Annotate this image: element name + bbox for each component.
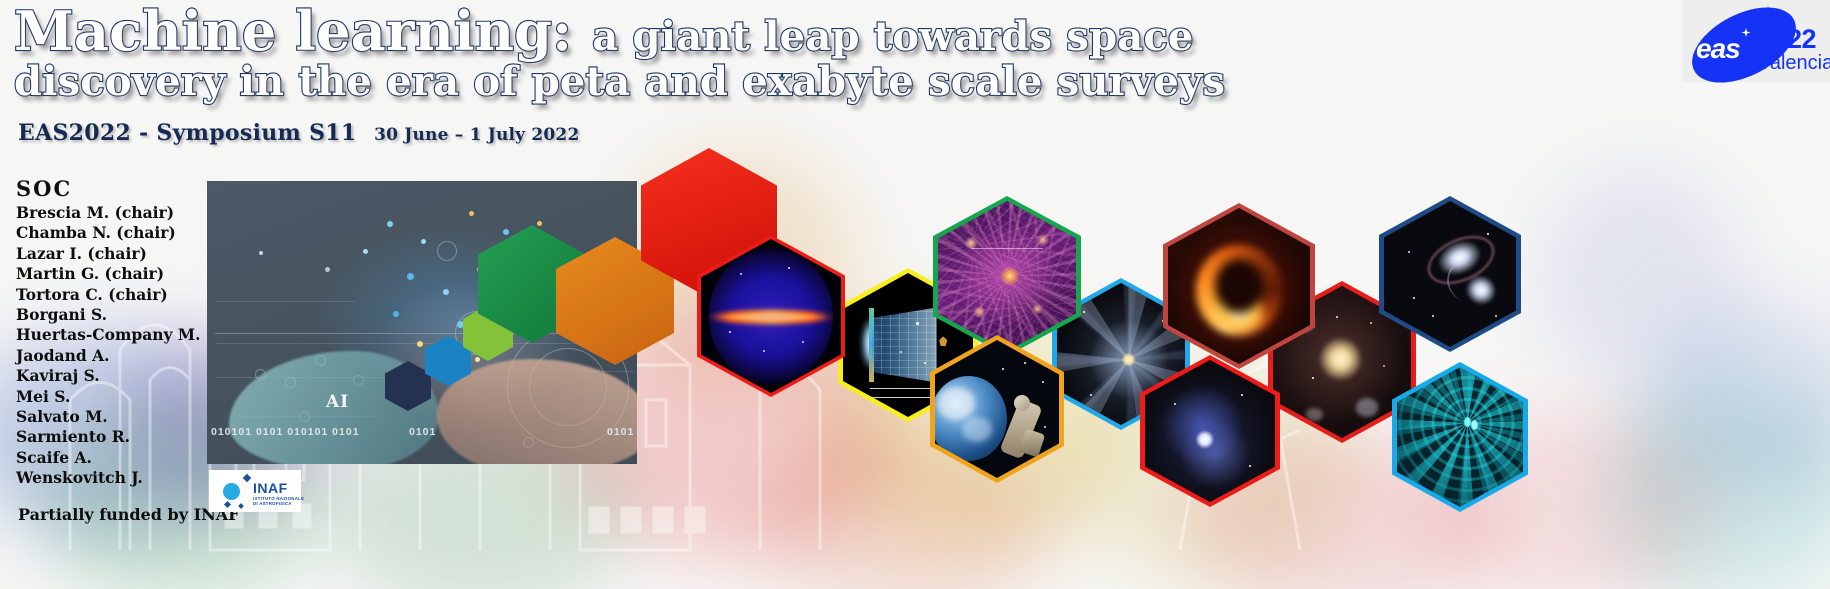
soc-member: Tortora C. (chair) xyxy=(16,285,201,305)
inaf-logo: INAF ISTITUTO NAZIONALE DI ASTROFISICA xyxy=(209,470,301,512)
inaf-diamond-top-icon xyxy=(243,474,251,482)
soc-member: Sarmiento R. xyxy=(16,427,201,447)
soc-member: Lazar I. (chair) xyxy=(16,244,201,264)
soc-heading: SOC xyxy=(16,176,201,201)
ai-label: AI xyxy=(326,392,349,412)
title-line-1: Machine learning: a giant leap towards s… xyxy=(14,4,1225,58)
soc-member: Chamba N. (chair) xyxy=(16,223,201,243)
symposium-dates: 30 June – 1 July 2022 xyxy=(374,125,579,145)
soc-member-list: Brescia M. (chair)Chamba N. (chair)Lazar… xyxy=(16,203,201,489)
title-line-2: discovery in the era of peta and exabyte… xyxy=(14,62,1225,102)
inaf-circle-icon xyxy=(223,483,240,500)
eas-logo: eas 2022 Valencia xyxy=(1682,0,1830,82)
inaf-wordmark: INAF xyxy=(253,481,288,495)
soc-member: Jaodand A. xyxy=(16,346,201,366)
soc-member: Scaife A. xyxy=(16,448,201,468)
eas-wordmark: eas xyxy=(1696,35,1740,63)
subtitle-row: EAS2022 - Symposium S11 30 June – 1 July… xyxy=(18,120,580,146)
title-main-phrase: Machine learning: xyxy=(14,0,572,63)
title-subphrase: a giant leap towards space xyxy=(592,13,1193,60)
poster-title: Machine learning: a giant leap towards s… xyxy=(14,4,1225,102)
soc-member: Huertas-Company M. xyxy=(16,325,201,345)
soc-block: SOC Brescia M. (chair)Chamba N. (chair)L… xyxy=(16,176,201,489)
poster-root: AI 010101 0101 010101 0101 0101 0101 xyxy=(0,0,1830,589)
soc-member: Salvato M. xyxy=(16,407,201,427)
inaf-diamond-bottom-icon xyxy=(224,501,231,508)
soc-member: Mei S. xyxy=(16,387,201,407)
binary-text-left: 010101 0101 010101 0101 xyxy=(211,426,360,438)
soc-member: Brescia M. (chair) xyxy=(16,203,201,223)
binary-text-right: 0101 xyxy=(409,426,436,438)
soc-member: Borgani S. xyxy=(16,305,201,325)
inaf-subtitle-2: DI ASTROFISICA xyxy=(253,501,292,506)
soc-member: Wenskovitch J. xyxy=(16,468,201,488)
eas-year: 2022 xyxy=(1758,26,1816,53)
soc-member: Kaviraj S. xyxy=(16,366,201,386)
symposium-label: EAS2022 - Symposium S11 xyxy=(18,120,357,146)
eas-city: Valencia xyxy=(1758,53,1830,73)
binary-text-far: 0101 xyxy=(607,426,634,438)
soc-member: Martin G. (chair) xyxy=(16,264,201,284)
funding-note: Partially funded by INAF xyxy=(18,505,239,524)
inaf-diamond-small-icon xyxy=(238,503,244,509)
